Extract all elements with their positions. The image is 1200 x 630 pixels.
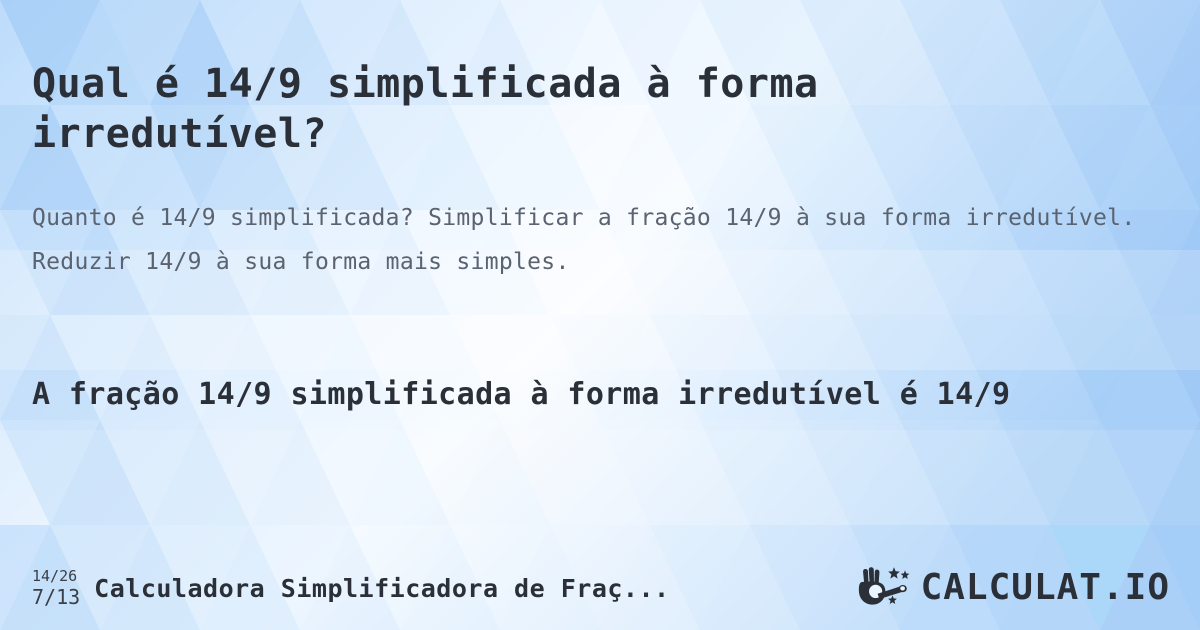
magic-wand-hand-icon [855, 565, 917, 611]
brand-logo[interactable]: CALCULAT.IO [855, 565, 1170, 611]
fraction-badge-top-line: 14/26 [32, 569, 77, 584]
footer-bar: 14/26 7/13 Calculadora Simplificadora de… [0, 546, 1200, 630]
footer-site-title: Calculadora Simplificadora de Fraç... [94, 574, 838, 603]
page-description: Quanto é 14/9 simplificada? Simplificar … [32, 196, 1162, 284]
fraction-badge-bottom-line: 7/13 [32, 587, 80, 607]
og-image-card: Qual é 14/9 simplificada à forma irredut… [0, 0, 1200, 630]
fraction-badge-icon: 14/26 7/13 [32, 569, 80, 607]
brand-wordmark: CALCULAT.IO [921, 570, 1170, 606]
card-content: Qual é 14/9 simplificada à forma irredut… [0, 0, 1200, 630]
page-title: Qual é 14/9 simplificada à forma irredut… [32, 59, 1032, 159]
answer-statement: A fração 14/9 simplificada à forma irred… [32, 374, 1162, 416]
